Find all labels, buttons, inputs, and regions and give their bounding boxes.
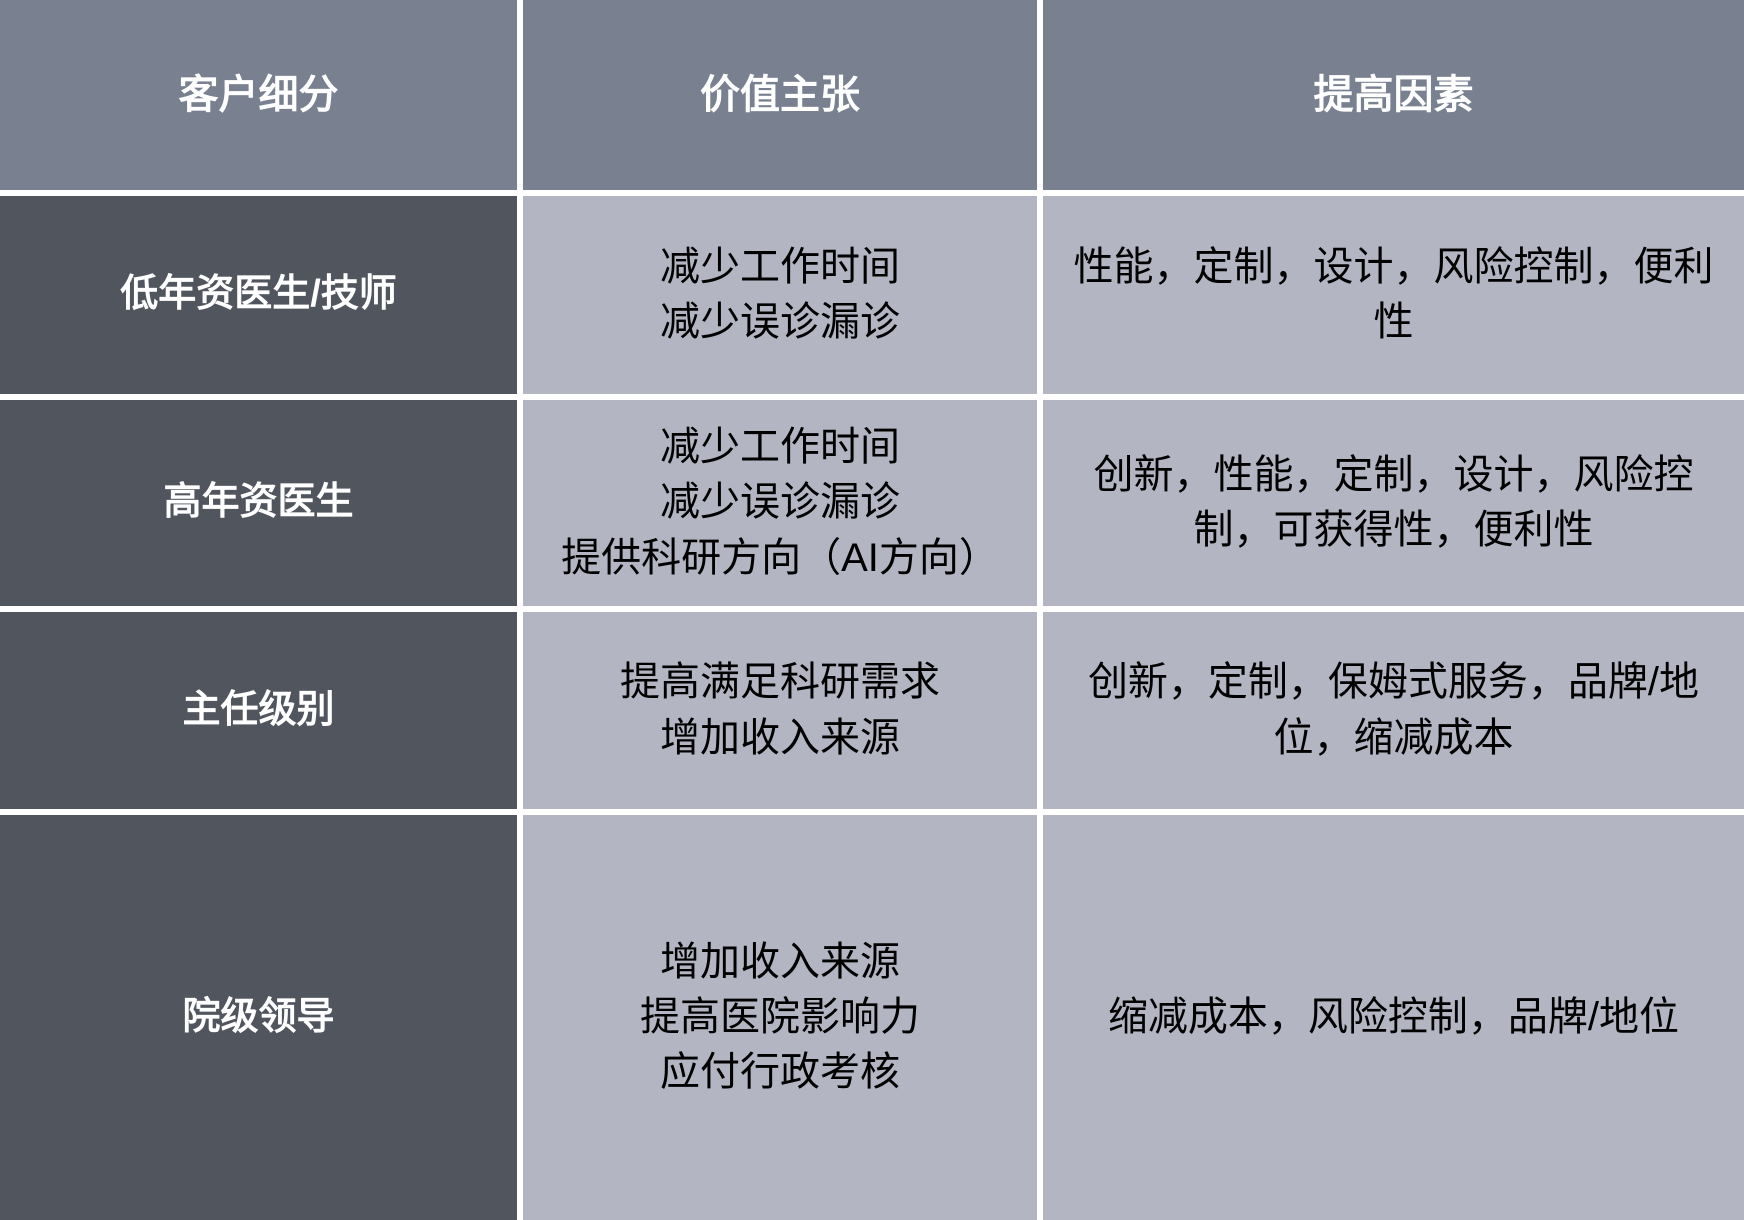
segment-name-cell: 高年资医生 [0,400,523,612]
table-body: 低年资医生/技师 减少工作时间 减少误诊漏诊 性能，定制，设计，风险控制，便利性… [0,196,1744,1220]
value-proposition-line: 减少误诊漏诊 [537,475,1023,530]
table-row: 高年资医生 减少工作时间 减少误诊漏诊 提供科研方向（AI方向） 创新，性能，定… [0,400,1744,612]
value-proposition-line: 提供科研方向（AI方向） [537,531,1023,586]
customer-segment-table-container: 客户细分 价值主张 提高因素 低年资医生/技师 减少工作时间 减少误诊漏诊 性能… [0,0,1744,1220]
improvement-factors-cell: 缩减成本，风险控制，品牌/地位 [1043,815,1744,1220]
segment-name-cell: 院级领导 [0,815,523,1220]
improvement-factors-text: 性能，定制，设计，风险控制，便利性 [1065,240,1722,350]
value-proposition-cell: 提高满足科研需求 增加收入来源 [523,612,1043,815]
improvement-factors-cell: 创新，性能，定制，设计，风险控制，可获得性，便利性 [1043,400,1744,612]
value-proposition-line: 提高医院影响力 [537,990,1023,1045]
value-proposition-line: 增加收入来源 [537,935,1023,990]
value-proposition-cell: 增加收入来源 提高医院影响力 应付行政考核 [523,815,1043,1220]
segment-name-cell: 低年资医生/技师 [0,196,523,400]
column-header-customer-segment: 客户细分 [0,0,523,196]
improvement-factors-text: 创新，定制，保姆式服务，品牌/地位，缩减成本 [1065,655,1722,765]
improvement-factors-text: 缩减成本，风险控制，品牌/地位 [1065,990,1722,1045]
header-row: 客户细分 价值主张 提高因素 [0,0,1744,196]
table-row: 主任级别 提高满足科研需求 增加收入来源 创新，定制，保姆式服务，品牌/地位，缩… [0,612,1744,815]
value-proposition-line: 提高满足科研需求 [537,655,1023,710]
value-proposition-cell: 减少工作时间 减少误诊漏诊 提供科研方向（AI方向） [523,400,1043,612]
table-row: 院级领导 增加收入来源 提高医院影响力 应付行政考核 缩减成本，风险控制，品牌/… [0,815,1744,1220]
value-proposition-line: 减少误诊漏诊 [537,295,1023,350]
value-proposition-line: 增加收入来源 [537,711,1023,766]
improvement-factors-cell: 创新，定制，保姆式服务，品牌/地位，缩减成本 [1043,612,1744,815]
column-header-value-proposition: 价值主张 [523,0,1043,196]
segment-name-cell: 主任级别 [0,612,523,815]
customer-segment-table: 客户细分 价值主张 提高因素 低年资医生/技师 减少工作时间 减少误诊漏诊 性能… [0,0,1744,1220]
value-proposition-line: 减少工作时间 [537,240,1023,295]
table-row: 低年资医生/技师 减少工作时间 减少误诊漏诊 性能，定制，设计，风险控制，便利性 [0,196,1744,400]
value-proposition-line: 应付行政考核 [537,1045,1023,1100]
table-header: 客户细分 价值主张 提高因素 [0,0,1744,196]
column-header-improvement-factors: 提高因素 [1043,0,1744,196]
improvement-factors-cell: 性能，定制，设计，风险控制，便利性 [1043,196,1744,400]
value-proposition-cell: 减少工作时间 减少误诊漏诊 [523,196,1043,400]
improvement-factors-text: 创新，性能，定制，设计，风险控制，可获得性，便利性 [1065,448,1722,558]
value-proposition-line: 减少工作时间 [537,420,1023,475]
